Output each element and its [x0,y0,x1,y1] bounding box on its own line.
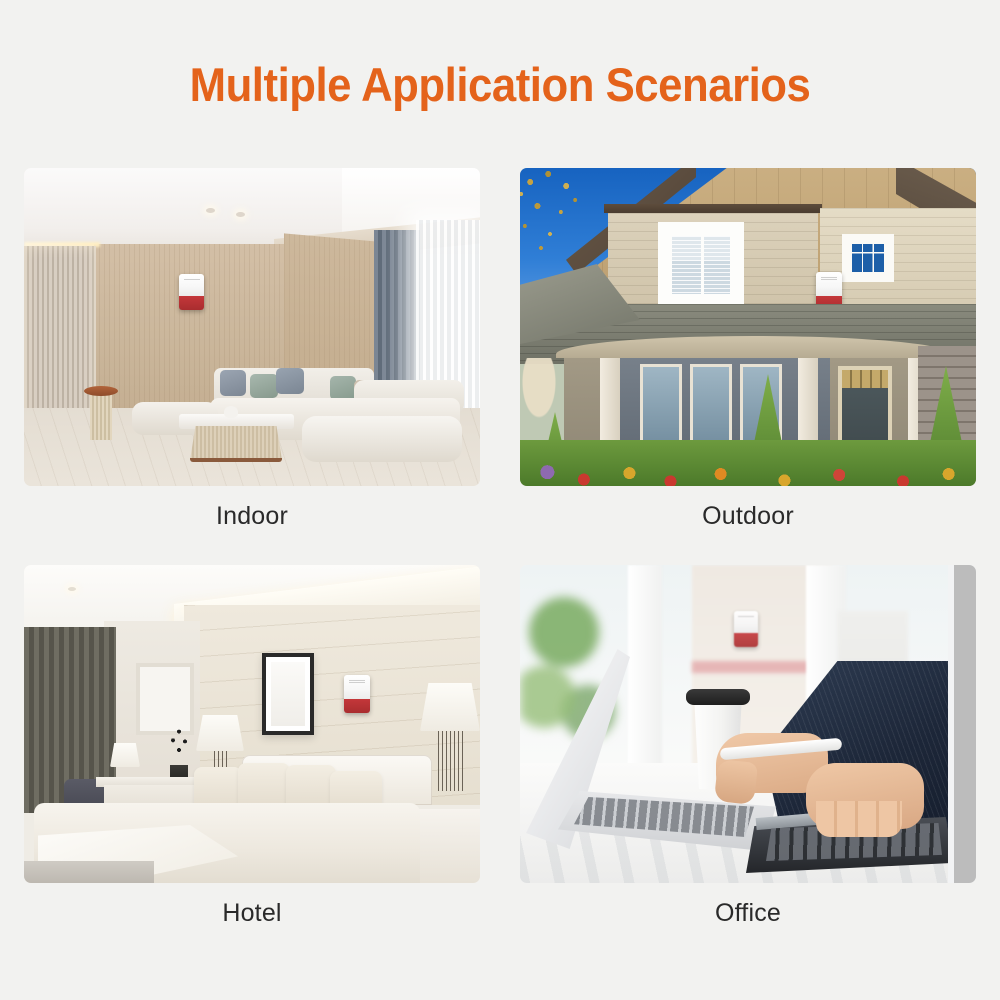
wireless-alarm-siren [179,274,204,310]
table-base-trim [190,458,282,462]
woven-table-base [190,426,282,460]
side-table-top [84,386,118,396]
framed-artwork [262,653,314,735]
siren-grill [821,277,838,279]
page-title: Multiple Application Scenarios [35,57,965,112]
siren-body [816,272,842,296]
coffee-cup-lid [686,689,750,705]
table-lamp-shade [420,683,480,731]
dormer-window [658,222,744,308]
scenario-card-outdoor: Outdoor [520,168,976,553]
siren-body [179,274,204,296]
artwork-canvas [271,662,305,726]
siren-grill [184,279,200,281]
ceiling-light [206,208,215,213]
vertical-slat-panel [24,246,96,428]
siren-grill [349,680,366,682]
siren-body [734,611,758,633]
sofa-chaise [302,416,462,462]
throw-pillow [220,370,246,396]
side-table-leg [90,392,112,440]
dormer-roof-trim [604,204,822,213]
wall-pillar [628,565,662,795]
ceiling-light [236,212,245,217]
window-mullion [701,236,704,294]
application-scenarios-page: Multiple Application Scenarios [0,0,1000,1000]
wireless-alarm-siren [344,675,370,713]
scenario-caption-indoor: Indoor [24,486,480,553]
scenario-caption-office: Office [520,883,976,950]
throw-pillow [250,374,278,398]
right-hand-fingers [816,801,902,837]
scenario-photo-hotel [24,565,480,883]
table-lamp-base [438,731,464,791]
scenario-caption-outdoor: Outdoor [520,486,976,553]
floor-rug [24,861,154,883]
window-glass [852,244,884,272]
scenario-photo-outdoor [520,168,976,486]
siren-strobe [179,296,204,310]
siren-strobe [734,633,758,647]
table-lamp-shade [196,715,244,751]
throw-pillow [330,376,356,400]
wireless-alarm-siren [734,611,758,647]
scenario-photo-office [520,565,976,883]
siren-strobe [344,699,370,713]
ornamental-grass [522,358,556,418]
ceiling-light [68,587,76,591]
nightstand [416,809,480,883]
scenario-caption-hotel: Hotel [24,883,480,950]
siren-grill [738,616,753,618]
right-window [842,234,894,282]
scenario-photo-indoor [24,168,480,486]
siren-body [344,675,370,699]
left-hand-fingers [714,759,758,805]
table-vase [224,406,238,418]
desk-lamp-shade [110,743,140,767]
scenario-card-hotel: Hotel [24,565,480,950]
scenario-card-indoor: Indoor [24,168,480,553]
door-transom [842,370,888,388]
scenario-card-office: Office [520,565,976,950]
flower-bed [520,440,976,486]
scenario-grid: Indoor [24,168,976,950]
photo-right-band [954,565,976,883]
throw-pillow [276,368,304,394]
